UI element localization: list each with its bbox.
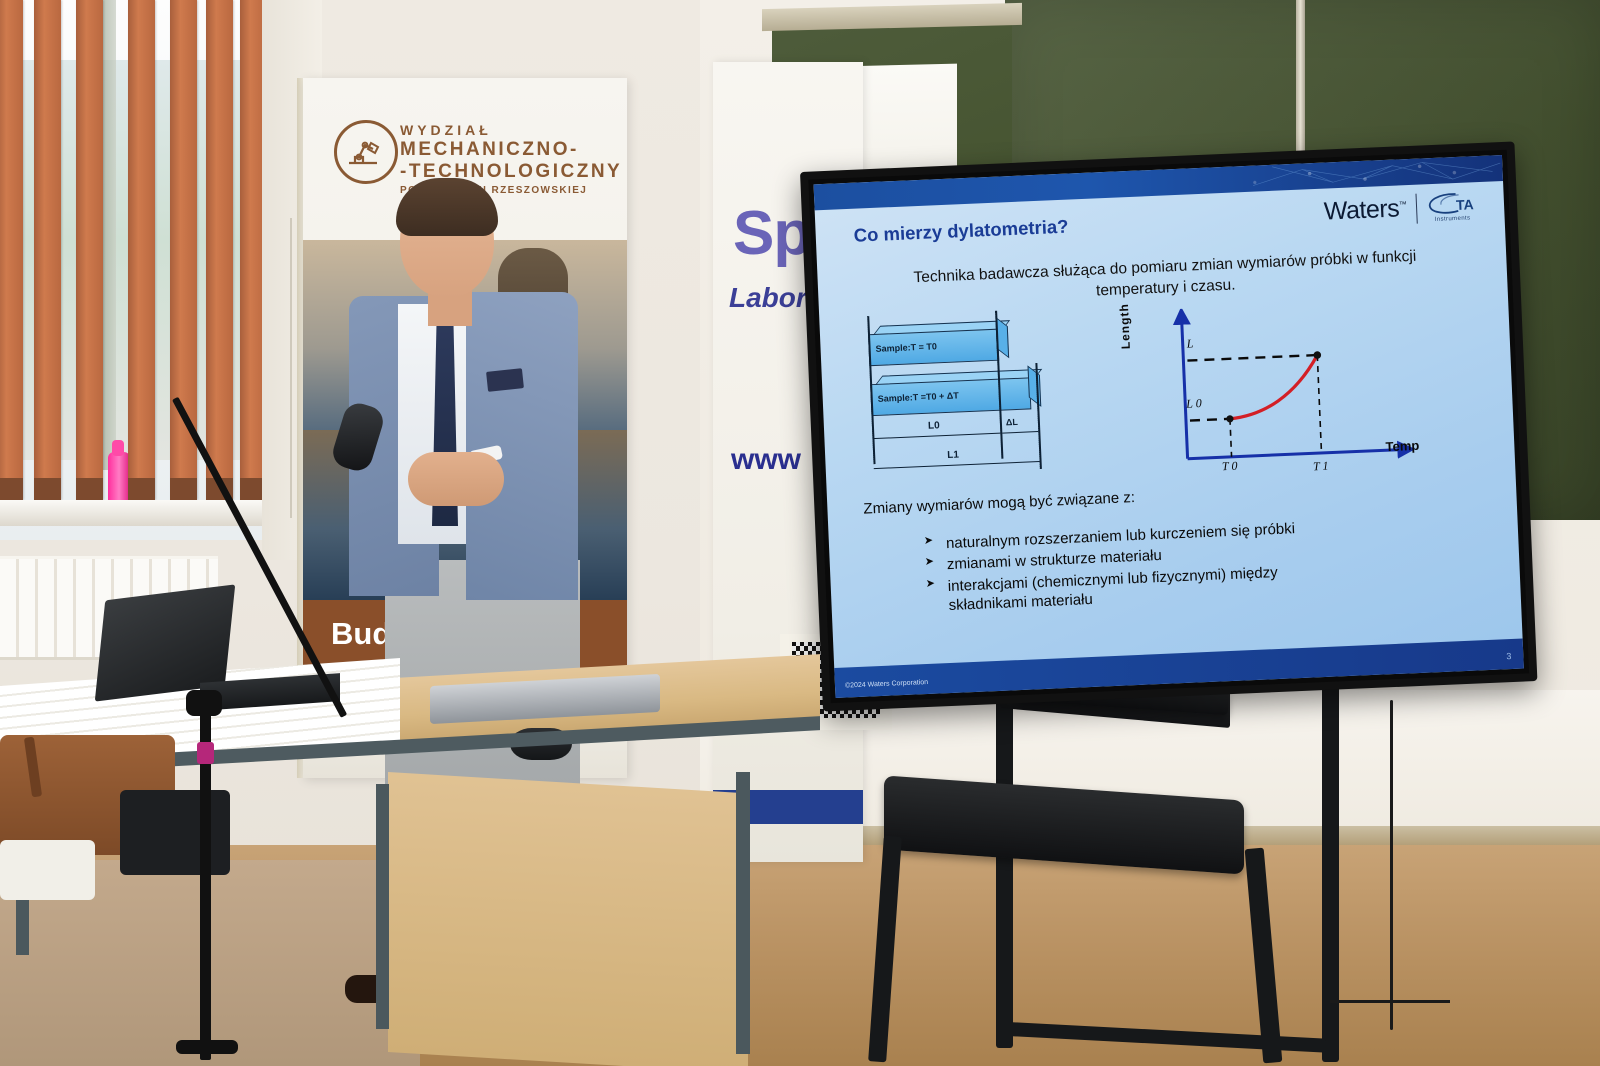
slide-number: 3: [1506, 651, 1511, 661]
mic-stand-base[interactable]: [176, 1040, 238, 1054]
desk-front-panel: [388, 772, 748, 1066]
svg-text:TA: TA: [1456, 196, 1474, 213]
dark-bag: [120, 790, 230, 875]
waters-wordmark: Waters™: [1323, 194, 1407, 227]
logo-divider: [1415, 193, 1418, 223]
mic-clamp-knob[interactable]: [197, 742, 214, 764]
robot-arm-icon: [334, 120, 398, 184]
slide-bullet-intro: Zmiany wymiarów mogą być związane z:: [863, 489, 1135, 518]
window-blind-slat[interactable]: [34, 0, 61, 500]
banner-faculty-footer-word: Bud: [331, 616, 391, 652]
dim-label-L1: L1: [947, 449, 959, 460]
banner-second-line3: www: [731, 443, 801, 477]
power-cable-floor: [1330, 1000, 1450, 1003]
length-vs-temperature-chart: Length Temp: [1119, 299, 1416, 491]
banner-faculty-line1: WYDZIAŁ: [400, 122, 622, 139]
slide-bullet-list: naturalnym rozszerzaniem lub kurczeniem …: [884, 508, 1524, 616]
power-cable-vertical: [1390, 700, 1393, 1030]
presentation-slide: Co mierzy dylatometria? Waters™ TA Instr…: [814, 155, 1524, 698]
white-object: [0, 840, 95, 900]
window-blind-slat[interactable]: [206, 0, 233, 500]
chart-x-tick-T0: T 0: [1222, 459, 1238, 475]
window-blind-slat[interactable]: [0, 0, 23, 500]
mic-clamp[interactable]: [186, 690, 222, 716]
presenter-pocket-square: [486, 368, 524, 392]
desk-leg-right: [736, 772, 750, 1054]
chart-y-tick-L0: L 0: [1186, 396, 1202, 412]
presenter-hands: [408, 452, 504, 506]
ta-swoosh-icon: TA: [1425, 190, 1478, 216]
dim-line-L1: [874, 461, 1040, 469]
window-sill: [0, 500, 262, 526]
chart-x-axis-label: Temp: [1385, 438, 1419, 454]
chart-y-axis-label: Length: [1117, 303, 1133, 350]
dim-label-L0: L0: [928, 420, 940, 431]
dim-label-dL: ΔL: [1006, 417, 1018, 428]
dim-line-L0: [872, 433, 1000, 439]
sample-expansion-diagram: Sample:T = T0 Sample:T =T0 + ΔT L0 ΔL L1: [867, 312, 1124, 493]
slide-title: Co mierzy dylatometria?: [853, 216, 1069, 247]
chart-canvas: [1119, 299, 1416, 491]
dim-line-dL: [1002, 431, 1038, 434]
presentation-room-scene: WYDZIAŁ MECHANICZNO- -TECHNOLOGICZNY POL…: [0, 0, 1600, 1066]
spray-bottle-nozzle: [112, 440, 124, 456]
chart-x-tick-T1: T 1: [1313, 459, 1329, 475]
ta-instruments-logo: TA Instruments: [1425, 190, 1478, 223]
waters-wordmark-text: Waters: [1323, 194, 1399, 225]
waters-trademark: ™: [1399, 200, 1407, 209]
blind-cord[interactable]: [290, 218, 292, 518]
window-blind-slat[interactable]: [128, 0, 155, 500]
display-monitor: Co mierzy dylatometria? Waters™ TA Instr…: [800, 141, 1537, 711]
window-blind-slat[interactable]: [76, 0, 103, 500]
waters-ta-logo: Waters™ TA Instruments: [1323, 190, 1478, 228]
presenter-jacket-right: [466, 292, 578, 600]
ta-instruments-label: Instruments: [1435, 215, 1471, 223]
desk-leg-mid: [376, 784, 389, 1029]
banner-faculty-line2: MECHANICZNO-: [400, 139, 622, 161]
tv-cart-leg-rear-right: [1322, 672, 1339, 1062]
chart-y-tick-L: L: [1186, 336, 1193, 351]
